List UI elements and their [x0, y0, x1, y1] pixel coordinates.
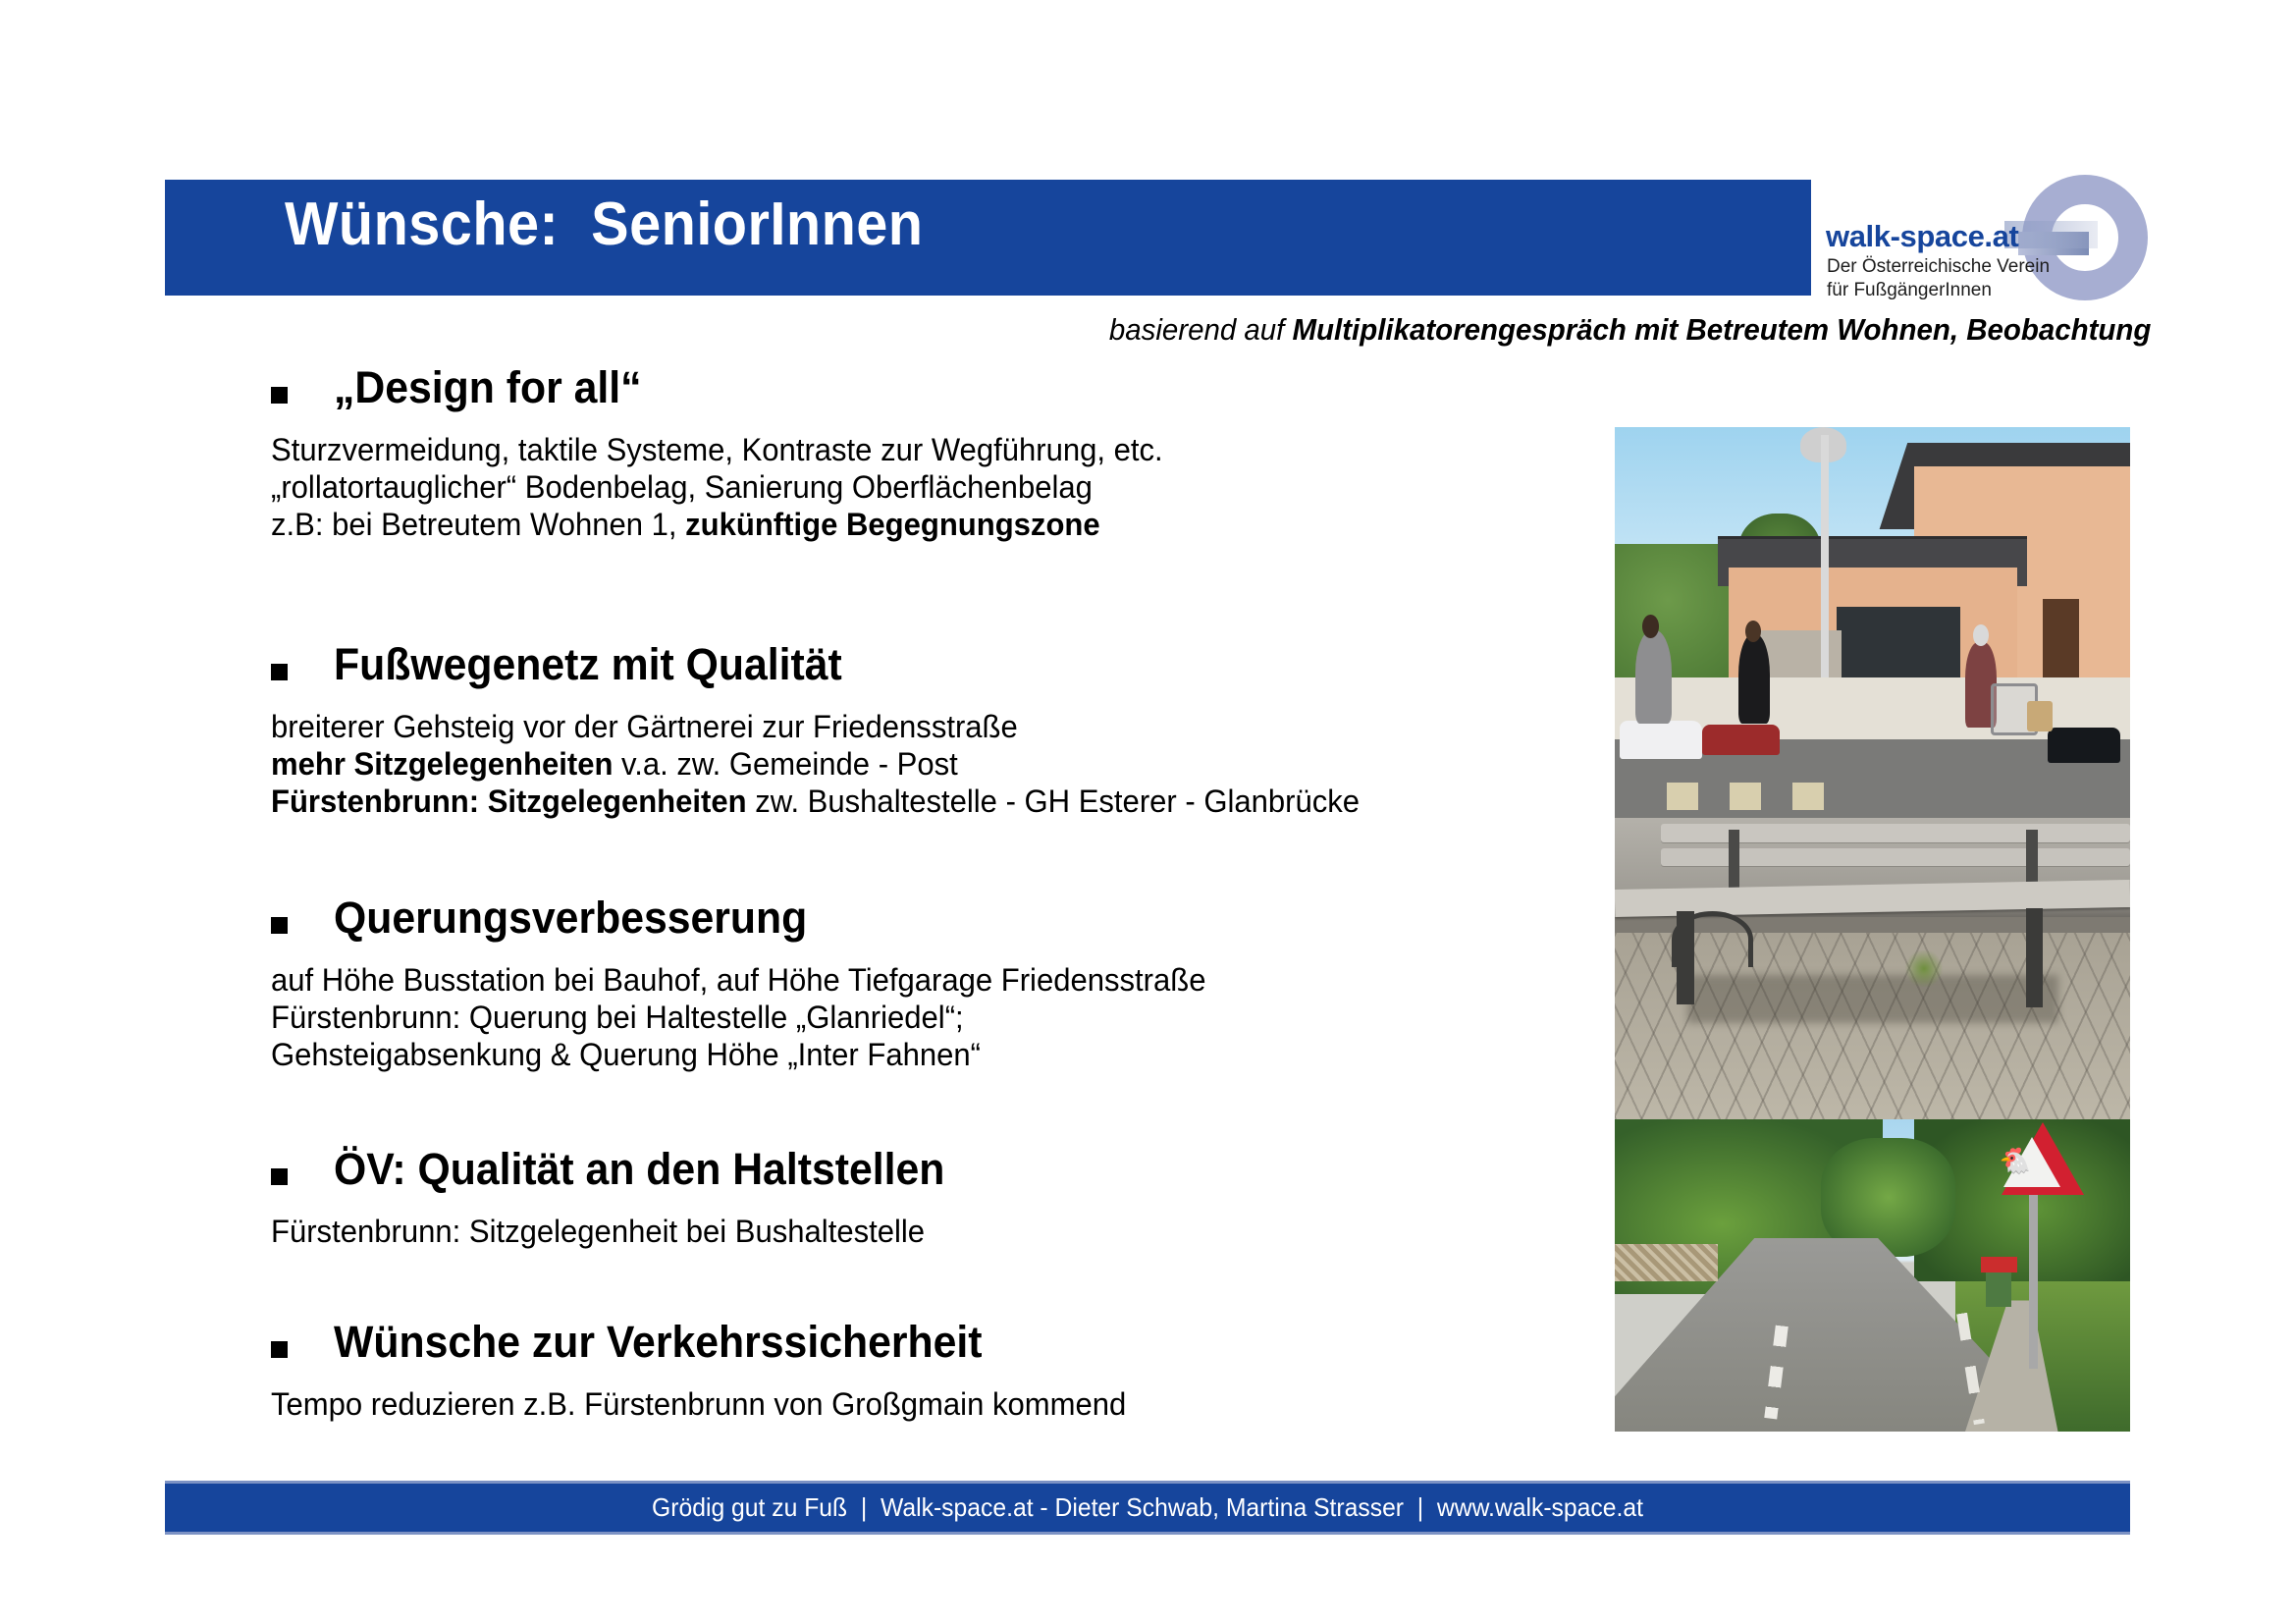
body-line-bold: zukünftige Begegnungszone	[685, 507, 1099, 542]
subtitle-emphasis: Multiplikatorengespräch mit Betreutem Wo…	[1292, 312, 2151, 347]
body-line-bold: Fürstenbrunn: Sitzgelegenheiten	[271, 784, 747, 819]
section-verkehrssicherheit: Wünsche zur Verkehrssicherheit Tempo red…	[271, 1320, 1152, 1423]
section-design-for-all: „Design for all“ Sturzvermeidung, taktil…	[271, 365, 1191, 543]
subtitle-lead: basierend auf	[1108, 312, 1292, 347]
bullet-row: Querungsverbesserung	[271, 895, 1235, 940]
square-bullet-icon	[271, 387, 288, 404]
bullet-row: Fußwegenetz mit Qualität	[271, 642, 1393, 686]
section-heading: Wünsche zur Verkehrssicherheit	[334, 1320, 983, 1364]
crosswalk-markings	[1667, 783, 1842, 810]
photo-rural-road: 🐔	[1615, 1119, 2130, 1432]
section-body: Tempo reduzieren z.B. Fürstenbrunn von G…	[271, 1385, 1126, 1423]
footer-bar: Grödig gut zu Fuß | Walk-space.at - Diet…	[165, 1481, 2130, 1535]
page-title: Wünsche: SeniorInnen	[285, 189, 923, 259]
senior-head	[1973, 624, 1989, 646]
section-body: Fürstenbrunn: Sitzgelegenheit bei Bushal…	[271, 1213, 956, 1250]
waste-bin	[1986, 1270, 2011, 1307]
body-line: Gehsteigabsenkung & Querung Höhe „Inter …	[271, 1037, 981, 1072]
pedestrian-head	[1642, 615, 1659, 638]
street-lamp-pole	[1821, 435, 1829, 709]
body-line-bold: mehr Sitzgelegenheiten	[271, 746, 613, 782]
body-line: „rollatortauglicher“ Bodenbelag, Sanieru…	[271, 469, 1093, 505]
logo-tagline: Der Österreichische Verein für Fußgänger…	[1827, 255, 2050, 302]
body-line: Sturzvermeidung, taktile Systeme, Kontra…	[271, 432, 1163, 467]
bench-brace	[1729, 830, 1740, 890]
pedestrian	[1635, 630, 1672, 725]
logo-wordmark: walk-space.at	[1826, 219, 2018, 254]
deer-icon: 🐔	[2000, 1148, 2031, 1173]
body-line: z.B: bei Betreutem Wohnen 1, zukünftige …	[271, 507, 1100, 542]
body-line: breiterer Gehsteig vor der Gärtnerei zur…	[271, 709, 1018, 744]
square-bullet-icon	[271, 1168, 288, 1185]
body-line: auf Höhe Busstation bei Bauhof, auf Höhe…	[271, 962, 1205, 998]
body-line: Fürstenbrunn: Sitzgelegenheiten zw. Bush…	[271, 784, 1360, 819]
body-line-plain: v.a. zw. Gemeinde - Post	[613, 746, 957, 782]
slide-subtitle: basierend auf Multiplikatorengespräch mi…	[1108, 312, 2151, 348]
section-body: auf Höhe Busstation bei Bauhof, auf Höhe…	[271, 961, 1205, 1073]
bench-shadow	[1687, 975, 2058, 1023]
photo-bench	[1615, 818, 2130, 1119]
pedestrian-head	[1745, 621, 1761, 642]
bullet-row: ÖV: Qualität an den Haltstellen	[271, 1147, 977, 1191]
parked-car	[1620, 721, 1702, 760]
section-heading: Querungsverbesserung	[334, 895, 807, 940]
body-line: Fürstenbrunn: Sitzgelegenheit bei Bushal…	[271, 1214, 925, 1249]
section-heading: Fußwegenetz mit Qualität	[334, 642, 842, 686]
pedestrian	[1738, 634, 1770, 725]
section-fusswegenetz: Fußwegenetz mit Qualität breiterer Gehst…	[271, 642, 1393, 820]
parked-car	[2048, 728, 2120, 763]
section-heading: „Design for all“	[334, 365, 642, 409]
square-bullet-icon	[271, 917, 288, 934]
footer-text: Grödig gut zu Fuß | Walk-space.at - Diet…	[214, 1484, 2081, 1532]
parked-car	[1702, 725, 1780, 756]
body-line: Fürstenbrunn: Querung bei Haltestelle „G…	[271, 1000, 964, 1035]
section-body: Sturzvermeidung, taktile Systeme, Kontra…	[271, 431, 1163, 543]
section-body: breiterer Gehsteig vor der Gärtnerei zur…	[271, 708, 1360, 820]
body-line: Tempo reduzieren z.B. Fürstenbrunn von G…	[271, 1386, 1126, 1422]
body-line-plain: z.B: bei Betreutem Wohnen 1,	[271, 507, 685, 542]
body-line-plain: zw. Bushaltestelle - GH Esterer - Glanbr…	[747, 784, 1360, 819]
sign-post	[2029, 1169, 2037, 1370]
section-oev-haltstellen: ÖV: Qualität an den Haltstellen Fürstenb…	[271, 1147, 977, 1250]
bullet-row: „Design for all“	[271, 365, 1191, 409]
photo-column: 🐔	[1615, 427, 2130, 1432]
weed-plant	[1903, 950, 1945, 987]
wooden-fence	[1615, 1244, 1718, 1281]
section-heading: ÖV: Qualität an den Haltstellen	[334, 1147, 944, 1191]
red-sign	[1981, 1257, 2017, 1272]
body-line: mehr Sitzgelegenheiten v.a. zw. Gemeinde…	[271, 746, 958, 782]
bullet-row: Wünsche zur Verkehrssicherheit	[271, 1320, 1152, 1364]
square-bullet-icon	[271, 1341, 288, 1358]
walk-space-logo: walk-space.at Der Österreichische Verein…	[1826, 175, 2150, 302]
shopping-bag	[2027, 701, 2053, 732]
section-querungsverbesserung: Querungsverbesserung auf Höhe Busstation…	[271, 895, 1235, 1073]
bench-leg	[1677, 911, 1694, 1004]
photo-street-scene	[1615, 427, 2130, 818]
bench-leg	[2026, 908, 2043, 1007]
square-bullet-icon	[271, 664, 288, 680]
house-door	[2043, 599, 2079, 685]
